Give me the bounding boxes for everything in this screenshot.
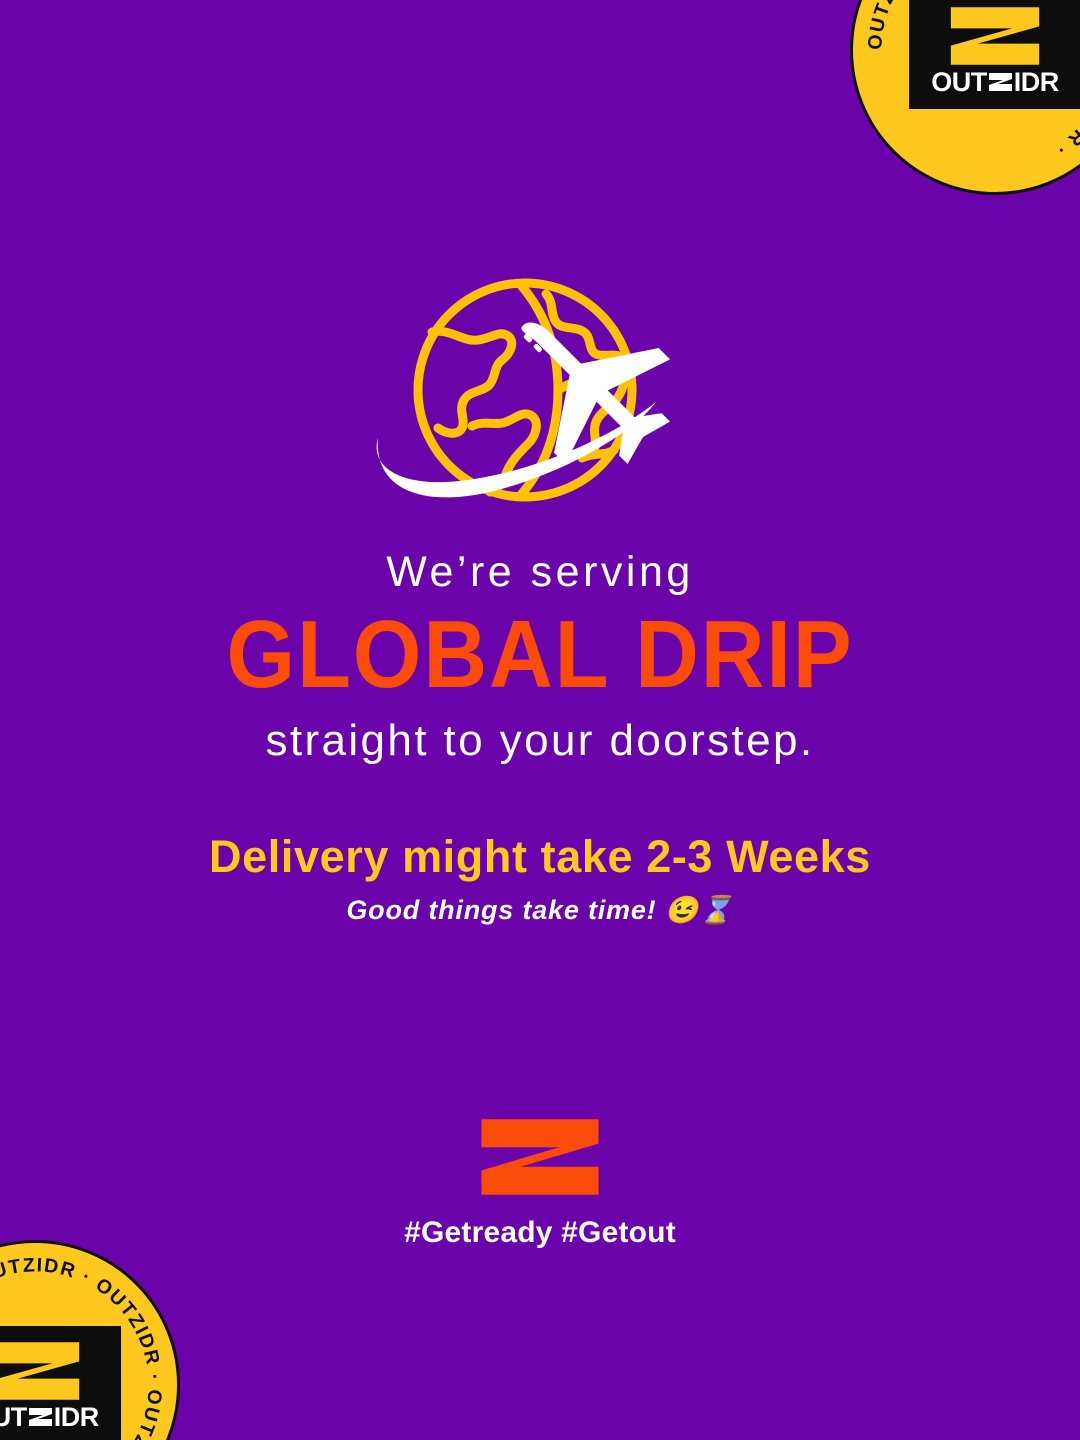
globe-illustration-svg bbox=[350, 270, 730, 520]
outzidr-z-logo-icon bbox=[479, 1118, 601, 1196]
z-logo-icon bbox=[0, 1340, 83, 1402]
globe-with-airplane-icon bbox=[350, 270, 730, 520]
z-logo-icon bbox=[947, 5, 1043, 67]
wordmark-prefix: OUT bbox=[931, 69, 987, 96]
badge-wordmark-bottom-left: OUT IDR bbox=[0, 1404, 99, 1431]
footer-block: #Getready #Getout bbox=[0, 1118, 1080, 1250]
badge-wordmark-top-right: OUT IDR bbox=[931, 69, 1059, 96]
badge-core-bottom-left: OUT IDR bbox=[0, 1326, 121, 1440]
wordmark-suffix: IDR bbox=[54, 1404, 99, 1431]
delivery-estimate-text: Delivery might take 2-3 Weeks bbox=[0, 830, 1080, 884]
wordmark-prefix: OUT bbox=[0, 1404, 27, 1431]
wordmark-suffix: IDR bbox=[1014, 69, 1059, 96]
copy-block: We’re serving GLOBAL DRIP straight to yo… bbox=[0, 548, 1080, 926]
badge-core-top-right: OUT IDR bbox=[909, 0, 1080, 109]
wordmark-z-icon bbox=[988, 72, 1013, 92]
hashtags-text: #Getready #Getout bbox=[404, 1216, 676, 1250]
eyebrow-text: We’re serving bbox=[0, 548, 1080, 597]
page-title: GLOBAL DRIP bbox=[43, 603, 1037, 707]
wordmark-z-icon bbox=[28, 1407, 53, 1427]
reassurance-text: Good things take time! 😉⌛ bbox=[0, 894, 1080, 926]
outzidr-sticker-bottom-left: OUTZIDR · OUTZIDR · OUTZIDR · OUTZIDR · … bbox=[0, 1240, 180, 1440]
outzidr-sticker-top-right: OUTZIDR · OUTZIDR · OUTZIDR · OUTZIDR · … bbox=[850, 0, 1080, 195]
promo-poster: OUTZIDR · OUTZIDR · OUTZIDR · OUTZIDR · … bbox=[0, 0, 1080, 1440]
subheadline-text: straight to your doorstep. bbox=[0, 715, 1080, 768]
globe-landmass-left bbox=[432, 331, 512, 433]
